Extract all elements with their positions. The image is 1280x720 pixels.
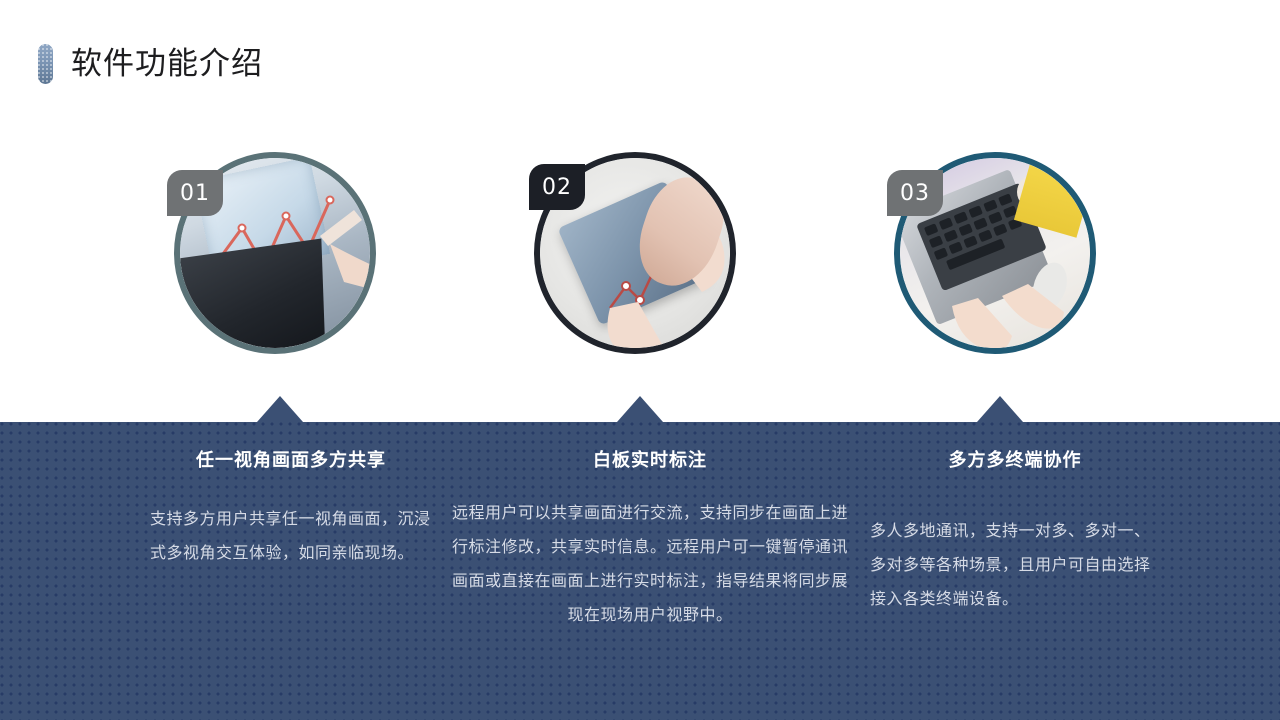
panel-arrow-1-icon [257,396,303,422]
feature-body-1: 支持多方用户共享任一视角画面，沉浸式多视角交互体验，如同亲临现场。 [150,502,432,570]
feature-card-2-image: 02 [534,152,736,354]
info-panel: 任一视角画面多方共享 支持多方用户共享任一视角画面，沉浸式多视角交互体验，如同亲… [0,422,1280,720]
panel-arrow-2-icon [617,396,663,422]
feature-column-2: 白板实时标注 远程用户可以共享画面进行交流，支持同步在画面上进行标注修改，共享实… [450,446,850,632]
card-badge-1: 01 [167,170,223,216]
feature-heading-1: 任一视角画面多方共享 [150,446,432,472]
feature-heading-2: 白板实时标注 [450,446,850,472]
card-badge-2: 02 [529,164,585,210]
feature-card-3-image: 03 [894,152,1096,354]
title-accent-bar-icon [38,44,53,84]
feature-column-3: 多方多终端协作 多人多地通讯，支持一对多、多对一、多对多等各种场景，且用户可自由… [870,446,1160,616]
slide-title-text: 软件功能介绍 [71,49,263,80]
card-badge-3: 03 [887,170,943,216]
feature-card-1-image: 01 [174,152,376,354]
feature-body-2: 远程用户可以共享画面进行交流，支持同步在画面上进行标注修改，共享实时信息。远程用… [450,496,850,632]
page-title: 软件功能介绍 [38,44,263,84]
feature-column-1: 任一视角画面多方共享 支持多方用户共享任一视角画面，沉浸式多视角交互体验，如同亲… [150,446,432,570]
feature-body-3: 多人多地通讯，支持一对多、多对一、多对多等各种场景，且用户可自由选择接入各类终端… [870,514,1160,616]
panel-arrow-3-icon [977,396,1023,422]
feature-heading-3: 多方多终端协作 [870,446,1160,472]
